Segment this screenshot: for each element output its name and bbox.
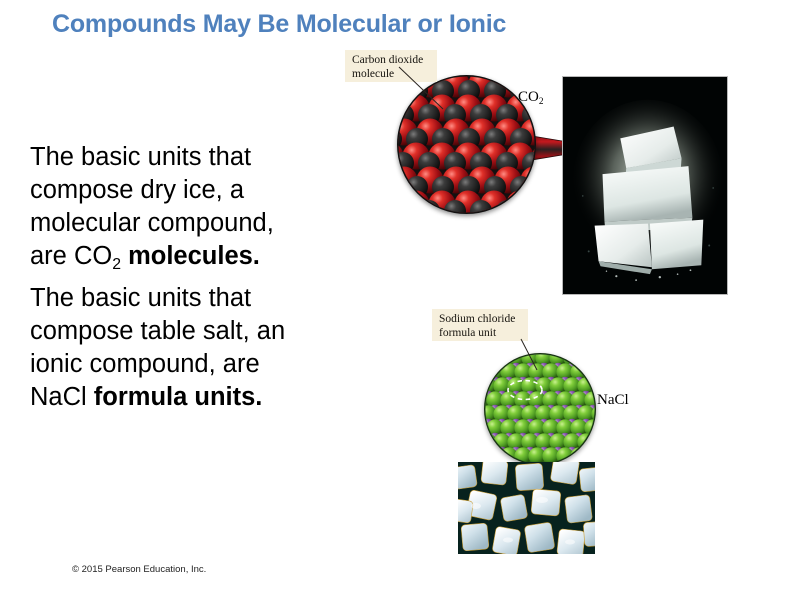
photo-table-salt-svg [458, 462, 595, 554]
co2-callout-leader-line [398, 66, 448, 114]
formula-co2-subscript: 2 [112, 256, 121, 273]
label-co2-formula: CO2 [518, 89, 544, 106]
nacl-callout-leader-line [519, 338, 541, 372]
paragraph-table-salt-bold: formula units. [87, 383, 263, 411]
label-co2-subscript: 2 [539, 97, 544, 107]
copyright-notice: © 2015 Pearson Education, Inc. [72, 564, 206, 575]
photo-dry-ice-svg [563, 77, 727, 294]
slide-canvas: Compounds May Be Molecular or Ionic The … [0, 0, 800, 600]
photo-table-salt [458, 462, 595, 554]
paragraph-dry-ice-bold: molecules. [121, 242, 260, 270]
body-text-block: The basic units that compose dry ice, a … [30, 141, 305, 420]
label-co2-text: CO [518, 89, 539, 105]
paragraph-table-salt-lead: The basic units that compose table salt,… [30, 284, 285, 378]
paragraph-table-salt: The basic units that compose table salt,… [30, 282, 305, 414]
callout-sodium-chloride-formula-unit: Sodium chloride formula unit [432, 309, 528, 341]
photo-dry-ice [562, 76, 728, 295]
formula-nacl-inline: NaCl [30, 383, 87, 411]
formula-co2-inline: CO [74, 242, 112, 270]
page-title: Compounds May Be Molecular or Ionic [52, 10, 752, 39]
paragraph-dry-ice: The basic units that compose dry ice, a … [30, 141, 305, 276]
label-nacl-formula: NaCl [597, 392, 629, 409]
